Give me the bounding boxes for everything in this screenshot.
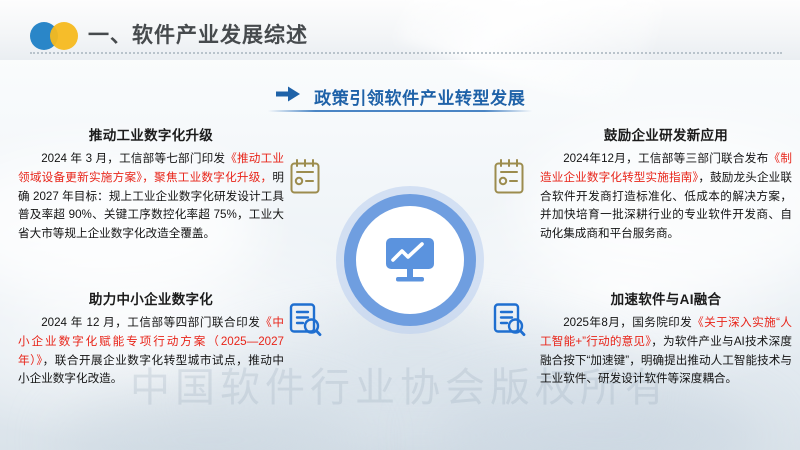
arrow-right-icon — [275, 85, 301, 108]
content-block-bottom-right: 加速软件与AI融合 2025年8月，国务院印发《关于深入实施“人工智能+”行动的… — [540, 288, 792, 389]
slide-header: 一、软件产业发展综述 — [0, 0, 800, 60]
clipboard-icon — [288, 158, 322, 196]
body-text: 2024 年 12 月，工信部等四部门联合印发 — [41, 316, 260, 329]
monitor-chart-icon — [380, 230, 440, 290]
body-text: 2025年8月，国务院印发 — [563, 316, 692, 329]
content-block-top-right: 鼓励企业研发新应用 2024年12月，工信部等三部门联合发布《制造业企业数字化转… — [540, 124, 792, 244]
background-cloud — [60, 395, 360, 450]
block-body: 2024 年 3 月，工信部等七部门印发《推动工业领域设备更新实施方案》，聚焦工… — [18, 150, 284, 244]
page-title: 一、软件产业发展综述 — [88, 19, 308, 49]
block-title: 鼓励企业研发新应用 — [540, 124, 792, 144]
logo-circle-yellow — [50, 22, 78, 50]
content-block-bottom-left: 助力中小企业数字化 2024 年 12 月，工信部等四部门联合印发《中小企业数字… — [18, 288, 284, 389]
clipboard-icon — [492, 158, 526, 196]
block-body: 2025年8月，国务院印发《关于深入实施“人工智能+”行动的意见》，为软件产业与… — [540, 314, 792, 389]
header-divider — [30, 52, 782, 54]
document-search-icon — [288, 302, 322, 340]
subtitle-underline — [268, 110, 532, 112]
content-block-top-left: 推动工业数字化升级 2024 年 3 月，工信部等七部门印发《推动工业领域设备更… — [18, 124, 284, 244]
body-text: 2024 年 3 月，工信部等七部门印发 — [41, 152, 225, 165]
logo-icon — [30, 22, 82, 50]
block-title: 加速软件与AI融合 — [540, 288, 792, 308]
block-title: 助力中小企业数字化 — [18, 288, 284, 308]
section-subtitle-label: 政策引领软件产业转型发展 — [314, 84, 525, 109]
center-badge — [336, 186, 484, 334]
block-body: 2024年12月，工信部等三部门联合发布《制造业企业数字化转型实施指南》，鼓励龙… — [540, 150, 792, 244]
background-cloud — [430, 390, 770, 450]
section-subtitle: 政策引领软件产业转型发展 — [0, 84, 800, 109]
slide: 一、软件产业发展综述 政策引领软件产业转型发展 中国软件行业协会版权所有 — [0, 0, 800, 450]
body-text: ，联合开展企业数字化转型城市试点，推动中小企业数字化改造。 — [18, 354, 284, 386]
document-search-icon — [492, 302, 526, 340]
body-text: 2024年12月，工信部等三部门联合发布 — [563, 152, 768, 165]
block-body: 2024 年 12 月，工信部等四部门联合印发《中小企业数字化赋能专项行动方案（… — [18, 314, 284, 389]
block-title: 推动工业数字化升级 — [18, 124, 284, 144]
